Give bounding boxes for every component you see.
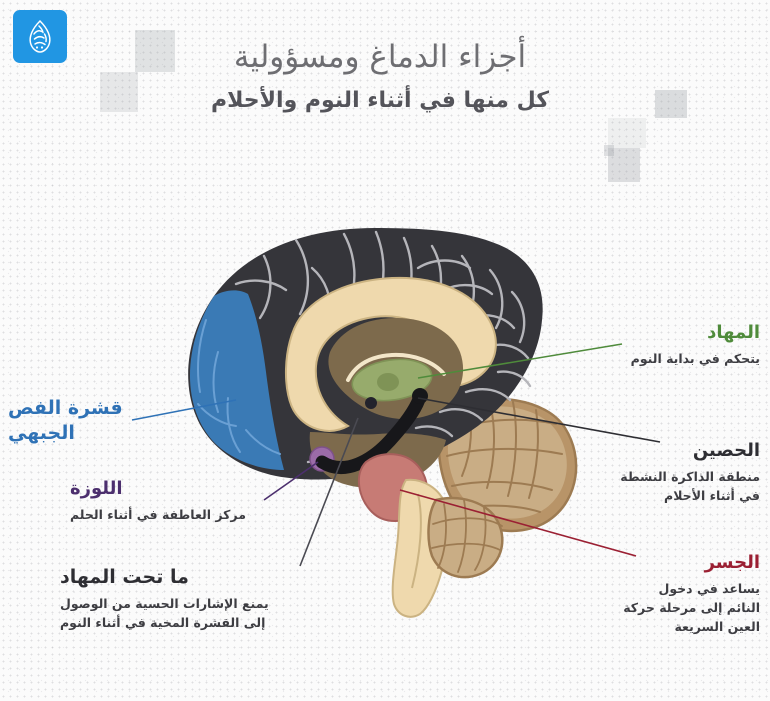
callout-amygdala-title: اللوزة xyxy=(70,478,285,500)
callout-thalamus-description: يتحكم في بداية النوم xyxy=(580,349,760,368)
mammillary-body xyxy=(365,397,377,409)
callout-hippocampus: الحصين منطقة الذاكرة النشطة في أثناء الأ… xyxy=(575,440,760,505)
desc-line: إلى القشرة المخية في أثناء النوم xyxy=(60,615,265,630)
callout-thalamus-title: المهاد xyxy=(580,322,760,344)
desc-line: يمنع الإشارات الحسية من الوصول xyxy=(60,596,269,611)
hippocampus-head xyxy=(412,388,428,404)
callout-thalamus: المهاد يتحكم في بداية النوم xyxy=(580,322,760,368)
desc-line: العين السريعة xyxy=(674,619,760,634)
callout-prefrontal-title: قشرة الفص الجبهي xyxy=(8,396,168,445)
title-line: الجبهي xyxy=(8,422,75,444)
callout-pons-title: الجسر xyxy=(565,552,760,574)
desc-line: النائم إلى مرحلة حركة xyxy=(623,600,760,615)
desc-line: في أثناء الأحلام xyxy=(664,488,760,503)
infographic-canvas: أجزاء الدماغ ومسؤولية كل منها في أثناء ا… xyxy=(0,0,770,701)
callout-pons: الجسر يساعد في دخول النائم إلى مرحلة حرك… xyxy=(565,552,760,637)
callout-amygdala: اللوزة مركز العاطفة في أثناء الحلم xyxy=(70,478,285,524)
callout-amygdala-description: مركز العاطفة في أثناء الحلم xyxy=(70,505,285,524)
callout-hippocampus-description: منطقة الذاكرة النشطة في أثناء الأحلام xyxy=(575,467,760,506)
callout-hypothalamus-description: يمنع الإشارات الحسية من الوصول إلى القشر… xyxy=(60,594,350,633)
callout-hypothalamus-title: ما تحت المهاد xyxy=(60,566,350,589)
desc-line: يساعد في دخول xyxy=(658,581,760,596)
callout-prefrontal-cortex: قشرة الفص الجبهي xyxy=(8,396,168,445)
title-line: قشرة الفص xyxy=(8,397,123,419)
desc-line: منطقة الذاكرة النشطة xyxy=(620,469,760,484)
thalamus-nucleus xyxy=(377,373,399,391)
callout-pons-description: يساعد في دخول النائم إلى مرحلة حركة العي… xyxy=(565,579,760,637)
callout-hippocampus-title: الحصين xyxy=(575,440,760,462)
callout-hypothalamus: ما تحت المهاد يمنع الإشارات الحسية من ال… xyxy=(60,566,350,633)
